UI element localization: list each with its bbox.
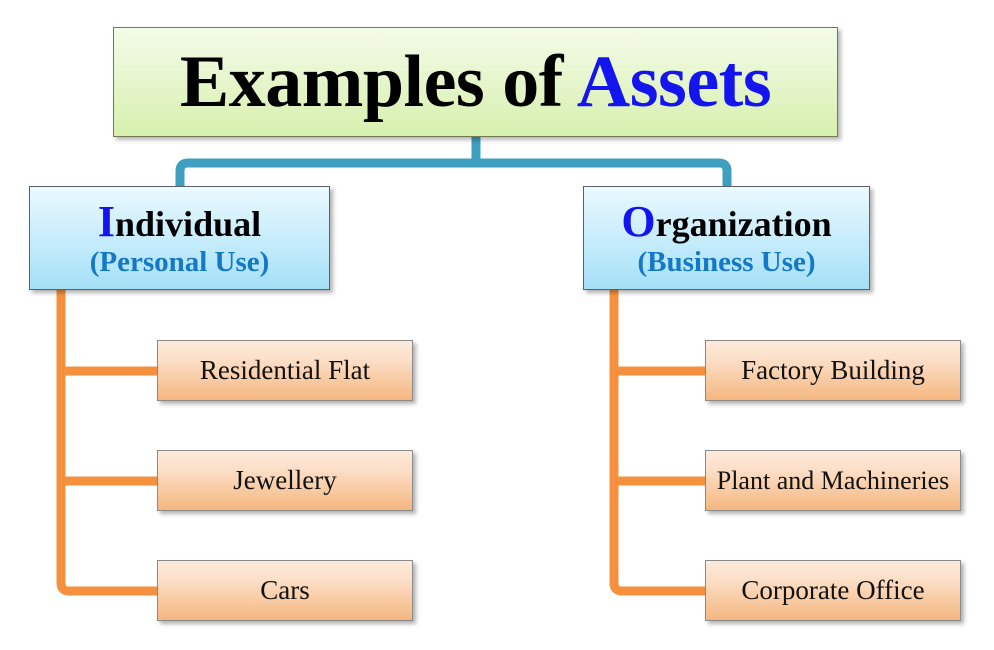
leaf-label: Corporate Office (741, 576, 924, 604)
leaf-label: Jewellery (233, 466, 336, 494)
leaf-box-plant-and-machineries[interactable]: Plant and Machineries (705, 450, 961, 511)
category-subtitle-individual: (Personal Use) (90, 247, 270, 277)
leaf-box-cars[interactable]: Cars (157, 560, 413, 621)
category-name-organization: rganization (656, 204, 832, 244)
leaf-label: Factory Building (741, 356, 925, 384)
leaf-box-factory-building[interactable]: Factory Building (705, 340, 961, 401)
category-title-individual: Individual (98, 199, 261, 245)
category-box-organization[interactable]: Organization (Business Use) (583, 186, 870, 290)
leaf-label: Residential Flat (200, 356, 370, 384)
leaf-box-residential-flat[interactable]: Residential Flat (157, 340, 413, 401)
leaf-label: Cars (260, 576, 310, 604)
category-name-individual: ndividual (115, 204, 261, 244)
diagram-title-box: Examples of Assets (113, 27, 838, 137)
leaf-label: Plant and Machineries (717, 467, 950, 494)
category-box-individual[interactable]: Individual (Personal Use) (29, 186, 330, 290)
title-text-accent: Assets (577, 41, 771, 123)
category-title-organization: Organization (621, 199, 831, 245)
title-text-black: Examples of (180, 41, 577, 123)
diagram-canvas: Examples of Assets Individual (Personal … (0, 0, 994, 650)
category-initial-individual: I (98, 197, 115, 246)
page-title: Examples of Assets (180, 44, 771, 121)
leaf-box-jewellery[interactable]: Jewellery (157, 450, 413, 511)
leaf-box-corporate-office[interactable]: Corporate Office (705, 560, 961, 621)
category-subtitle-organization: (Business Use) (637, 247, 815, 277)
category-initial-organization: O (621, 197, 655, 246)
